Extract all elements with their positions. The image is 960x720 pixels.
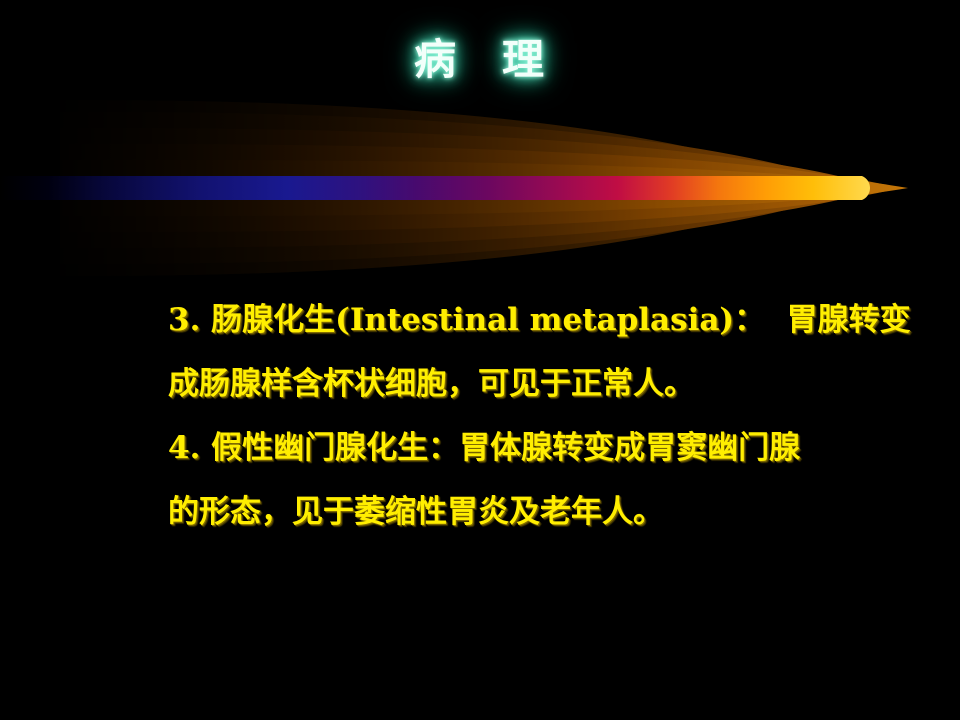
- comet-swoosh-decoration: [0, 88, 960, 288]
- body-line-3: 4. 假性幽门腺化生：胃体腺转变成胃窦幽门腺: [168, 416, 928, 480]
- body-line-1: 3. 肠腺化生(Intestinal metaplasia)： 胃腺转变: [168, 288, 928, 352]
- comet-core-bar: [0, 176, 870, 200]
- page-title: 病 理: [0, 26, 960, 87]
- comet-halo-group: [60, 100, 908, 276]
- body-line-2: 成肠腺样含杯状细胞，可见于正常人。: [168, 352, 928, 416]
- comet-svg: [0, 88, 960, 288]
- slide-canvas: 病 理 3. 肠腺化生(Intestinal metaplasia)： 胃腺转变…: [0, 0, 960, 720]
- body-line-4: 的形态，见于萎缩性胃炎及老年人。: [168, 480, 928, 544]
- slide-body-text: 3. 肠腺化生(Intestinal metaplasia)： 胃腺转变 成肠腺…: [168, 288, 928, 544]
